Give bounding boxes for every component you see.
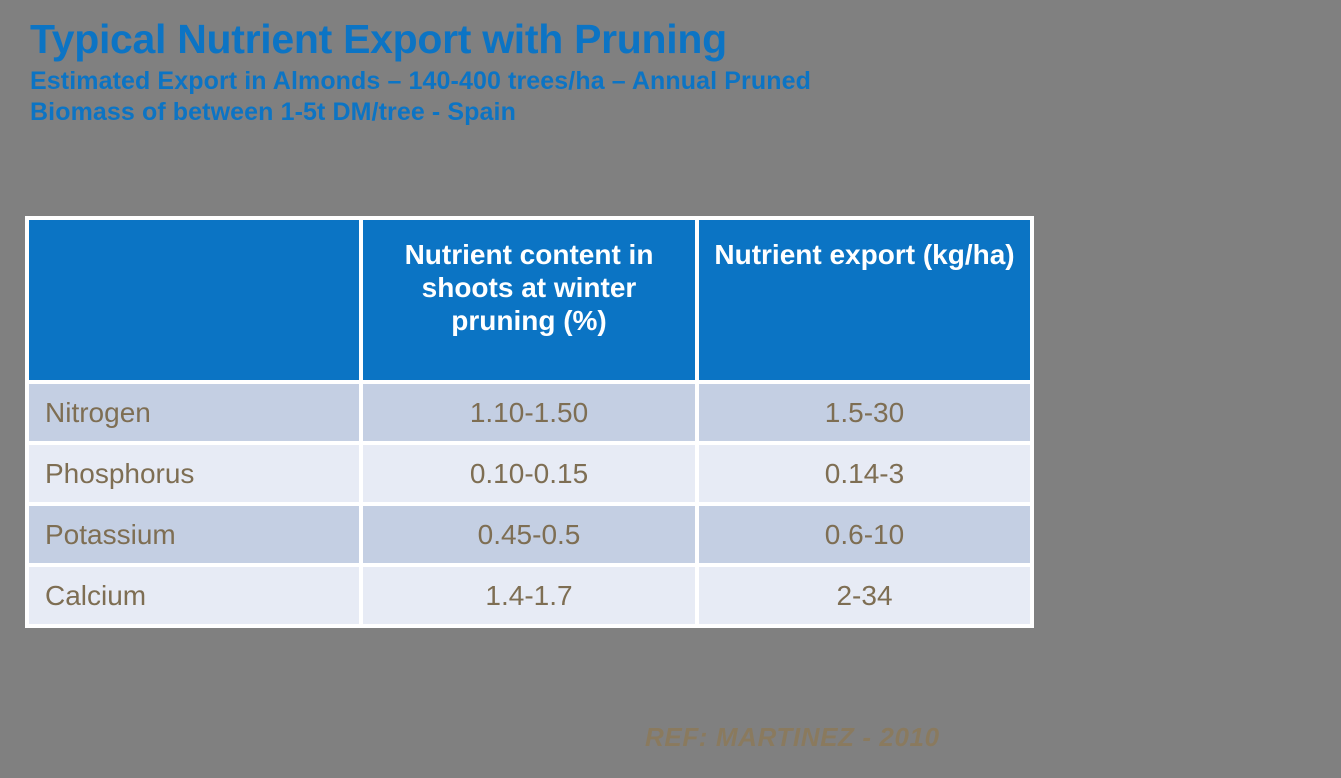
cell-export-kg-ha: 0.14-3	[699, 445, 1030, 502]
page-subtitle-line-1: Estimated Export in Almonds – 140-400 tr…	[30, 66, 1090, 97]
page-subtitle: Estimated Export in Almonds – 140-400 tr…	[30, 66, 1090, 128]
table-row: Calcium 1.4-1.7 2-34	[29, 567, 1030, 624]
table-body: Nitrogen 1.10-1.50 1.5-30 Phosphorus 0.1…	[29, 384, 1030, 624]
table-row: Nitrogen 1.10-1.50 1.5-30	[29, 384, 1030, 441]
table-row: Phosphorus 0.10-0.15 0.14-3	[29, 445, 1030, 502]
cell-content-percent: 0.45-0.5	[363, 506, 695, 563]
cell-nutrient-name: Calcium	[29, 567, 359, 624]
table-header-row: Nutrient content in shoots at winter pru…	[29, 220, 1030, 380]
title-block: Typical Nutrient Export with Pruning Est…	[30, 18, 1150, 128]
cell-export-kg-ha: 2-34	[699, 567, 1030, 624]
cell-nutrient-name: Nitrogen	[29, 384, 359, 441]
cell-content-percent: 1.10-1.50	[363, 384, 695, 441]
reference-citation: REF: MARTINEZ - 2010	[645, 722, 940, 753]
table-row: Potassium 0.45-0.5 0.6-10	[29, 506, 1030, 563]
cell-content-percent: 1.4-1.7	[363, 567, 695, 624]
table-header: Nutrient content in shoots at winter pru…	[29, 220, 1030, 380]
cell-nutrient-name: Potassium	[29, 506, 359, 563]
cell-nutrient-name: Phosphorus	[29, 445, 359, 502]
nutrient-table: Nutrient content in shoots at winter pru…	[25, 216, 1034, 628]
cell-export-kg-ha: 0.6-10	[699, 506, 1030, 563]
page-title: Typical Nutrient Export with Pruning	[30, 18, 1150, 61]
slide-canvas: Typical Nutrient Export with Pruning Est…	[0, 0, 1341, 778]
column-header-nutrient	[29, 220, 359, 380]
column-header-content-percent: Nutrient content in shoots at winter pru…	[363, 220, 695, 380]
column-header-export: Nutrient export (kg/ha)	[699, 220, 1030, 380]
nutrient-table-container: Nutrient content in shoots at winter pru…	[25, 216, 1030, 628]
cell-export-kg-ha: 1.5-30	[699, 384, 1030, 441]
page-subtitle-line-2: Biomass of between 1-5t DM/tree - Spain	[30, 97, 1090, 128]
cell-content-percent: 0.10-0.15	[363, 445, 695, 502]
